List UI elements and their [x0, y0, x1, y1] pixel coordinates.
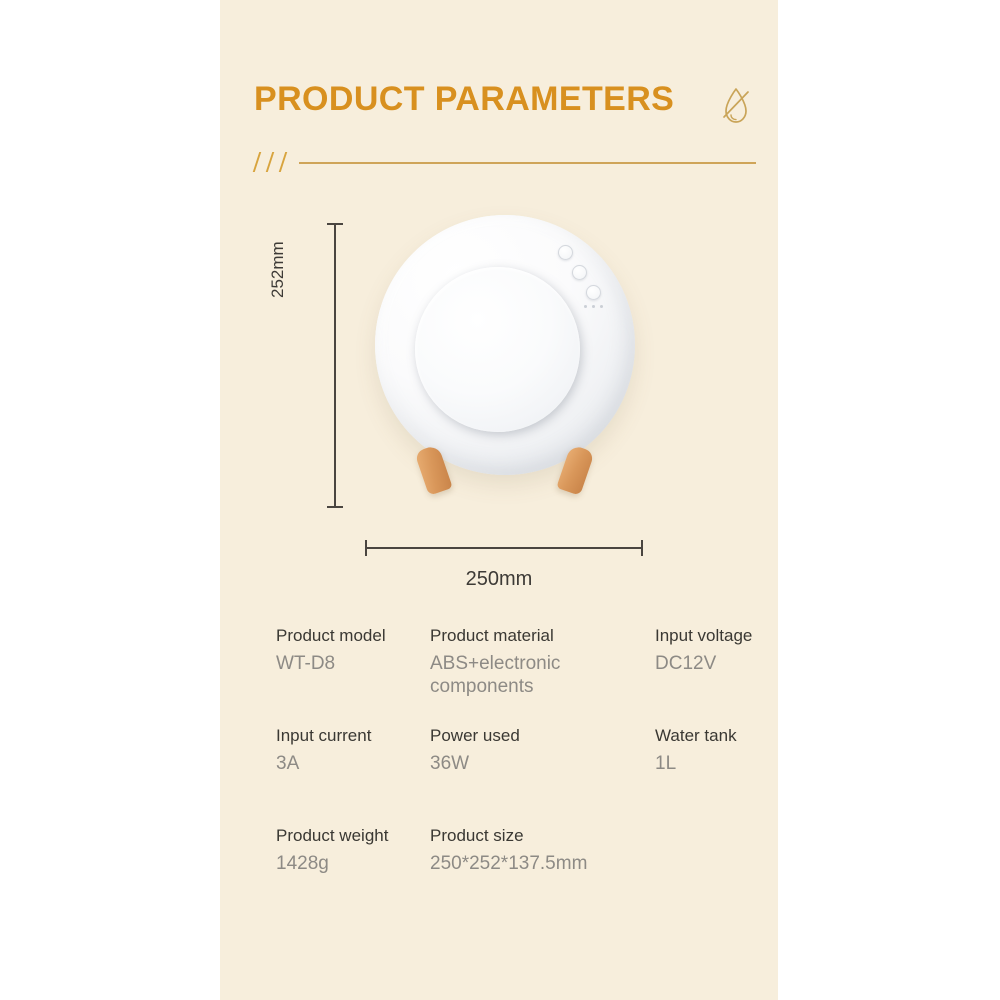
dimension-cap-bottom [327, 506, 343, 508]
height-dimension-label: 252mm [268, 241, 288, 298]
product-image [375, 215, 635, 515]
dimension-line-vertical [334, 225, 336, 506]
spec-value: 250*252*137.5mm [430, 853, 645, 875]
spec-value: ABS+electronic components [430, 653, 615, 698]
page-header: PRODUCT PARAMETERS [220, 0, 778, 185]
slash-mark-2 [266, 152, 274, 172]
spec-label: Product size [430, 825, 645, 846]
spec-value: 36W [430, 753, 645, 775]
indicator-dot-2 [592, 305, 595, 308]
indicator-dot-1 [584, 305, 587, 308]
spec-label: Product weight [276, 825, 426, 846]
spec-cell: Product model WT-D8 [276, 625, 426, 676]
spec-label: Product model [276, 625, 426, 646]
table-row: Product model WT-D8 Product material ABS… [220, 625, 778, 725]
table-row: Input current 3A Power used 36W Water ta… [220, 725, 778, 825]
no-water-droplet-icon [718, 84, 754, 128]
header-divider [252, 150, 756, 174]
device-front-panel [415, 267, 580, 432]
spec-label: Input voltage [655, 625, 775, 646]
spec-cell: Power used 36W [430, 725, 645, 776]
height-dimension-line [327, 223, 343, 508]
page-title: PRODUCT PARAMETERS [254, 82, 674, 116]
slash-mark-3 [279, 152, 287, 172]
spec-label: Water tank [655, 725, 775, 746]
indicator-dot-3 [600, 305, 603, 308]
dimension-line-horizontal [367, 547, 641, 549]
spec-value: DC12V [655, 653, 775, 675]
spec-cell: Water tank 1L [655, 725, 775, 776]
header-rule-line [299, 162, 756, 164]
table-row: Product weight 1428g Product size 250*25… [220, 825, 778, 925]
spec-label: Product material [430, 625, 645, 646]
control-panel [558, 245, 614, 313]
spec-cell: Product material ABS+electronic componen… [430, 625, 645, 698]
spec-label: Input current [276, 725, 426, 746]
product-figure: 252mm 250mm [220, 190, 778, 610]
specification-table: Product model WT-D8 Product material ABS… [220, 625, 778, 925]
spec-value: 1L [655, 753, 775, 775]
slash-mark-1 [253, 152, 261, 172]
spec-value: WT-D8 [276, 653, 426, 675]
spec-cell: Product size 250*252*137.5mm [430, 825, 645, 876]
spec-cell: Product weight 1428g [276, 825, 426, 876]
mode-button-icon [572, 265, 587, 280]
spec-value: 1428g [276, 853, 426, 875]
spec-label: Power used [430, 725, 645, 746]
spec-cell: Input current 3A [276, 725, 426, 776]
spec-cell: Input voltage DC12V [655, 625, 775, 676]
width-dimension-line [365, 540, 643, 556]
timer-button-icon [586, 285, 601, 300]
product-parameters-page: PRODUCT PARAMETERS 252mm [220, 0, 778, 1000]
dimension-cap-right [641, 540, 643, 556]
width-dimension-label: 250mm [220, 568, 778, 591]
spec-value: 3A [276, 753, 426, 775]
power-button-icon [558, 245, 573, 260]
